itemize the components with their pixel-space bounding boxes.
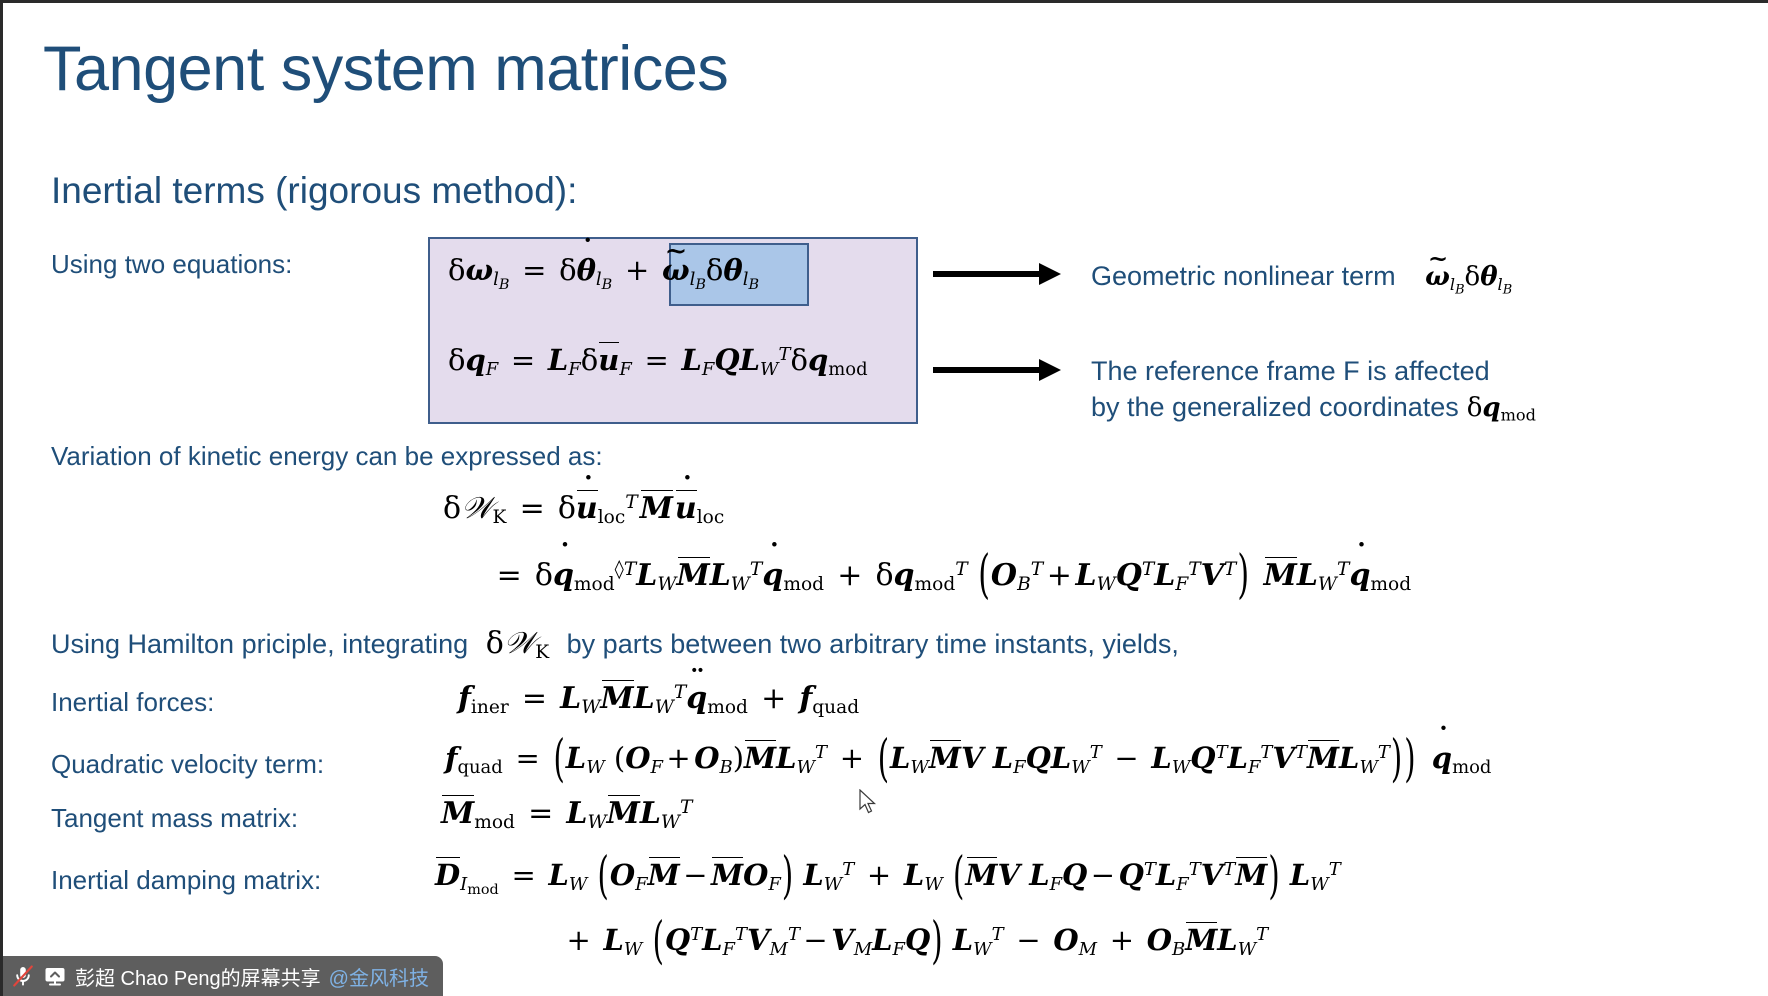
- hamilton-after-text: by parts between two arbitrary time inst…: [567, 629, 1179, 659]
- label-variation-kinetic-energy: Variation of kinetic energy can be expre…: [51, 441, 603, 472]
- equation-kinetic-line-2: = δqmod◊TLWMLWTqmod + δqmodT (OBT+LWQTLF…: [493, 558, 1411, 593]
- label-tangent-mass-matrix: Tangent mass matrix:: [51, 803, 298, 834]
- annotation-reference-frame: The reference frame F is affected by the…: [1091, 353, 1536, 427]
- mouse-cursor: [859, 789, 879, 817]
- equation-boxed-2: δqF = LFδuF = LFQLWTδqmod: [448, 343, 868, 377]
- page-title: Tangent system matrices: [43, 33, 728, 105]
- share-organization-label: @金风科技: [329, 962, 429, 991]
- annotation-reference-frame-line2-wrap: by the generalized coordinatesδqmod: [1091, 389, 1536, 426]
- label-using-two-equations: Using two equations:: [51, 249, 292, 280]
- microphone-muted-icon[interactable]: [11, 964, 35, 988]
- label-inertial-damping-matrix: Inertial damping matrix:: [51, 865, 321, 896]
- annotation-delta-q-mod: δqmod: [1467, 393, 1536, 423]
- label-quadratic-velocity-term: Quadratic velocity term:: [51, 749, 324, 780]
- equation-boxed-1: δωlB = δθlB + ωlBδθlB: [448, 253, 759, 287]
- share-presenter-label: 彭超 Chao Peng的屏幕共享: [75, 962, 321, 991]
- section-subheading: Inertial terms (rigorous method):: [51, 170, 577, 212]
- screen-share-status-bar[interactable]: 彭超 Chao Peng的屏幕共享 @金风科技: [3, 956, 443, 996]
- annotation-geometric-nonlinear-text: Geometric nonlinear term: [1091, 261, 1396, 291]
- label-inertial-forces: Inertial forces:: [51, 687, 214, 718]
- equation-kinetic-line-1: δ𝒲K = δulocTMuloc: [443, 491, 724, 526]
- equation-inertial-forces: finer = LWMLWTqmod + fquad: [458, 681, 859, 716]
- annotation-geometric-nonlinear: Geometric nonlinear term ωlBδθlB: [1091, 258, 1512, 295]
- equation-quadratic-velocity: fquad = (LW (OF+OB)MLWT + (LWMV LFQLWT −…: [445, 741, 1491, 775]
- slide-canvas: Tangent system matrices Inertial terms (…: [0, 0, 1768, 996]
- hamilton-before-text: Using Hamilton priciple, integrating: [51, 629, 468, 659]
- sentence-hamilton-principle: Using Hamilton priciple, integrating δ𝒲K…: [51, 626, 1179, 661]
- hamilton-delta-W-K: δ𝒲K: [486, 626, 549, 661]
- equation-tangent-mass-matrix: Mmod = LWMLWT: [441, 796, 692, 831]
- screen-share-icon[interactable]: [43, 964, 67, 988]
- equation-inertial-damping-line-2: + LW (QTLFTVMT−VMLFQ) LWT − OM + OBMLWT: [563, 923, 1268, 957]
- equation-inertial-damping-line-1: DImod = LW (OFM−MOF) LWT + LW (MV LFQ−QT…: [435, 858, 1341, 892]
- annotation-geometric-nonlinear-math: ωlBδθlB: [1425, 262, 1512, 292]
- annotation-reference-frame-line2: by the generalized coordinates: [1091, 392, 1459, 422]
- annotation-reference-frame-line1: The reference frame F is affected: [1091, 353, 1536, 389]
